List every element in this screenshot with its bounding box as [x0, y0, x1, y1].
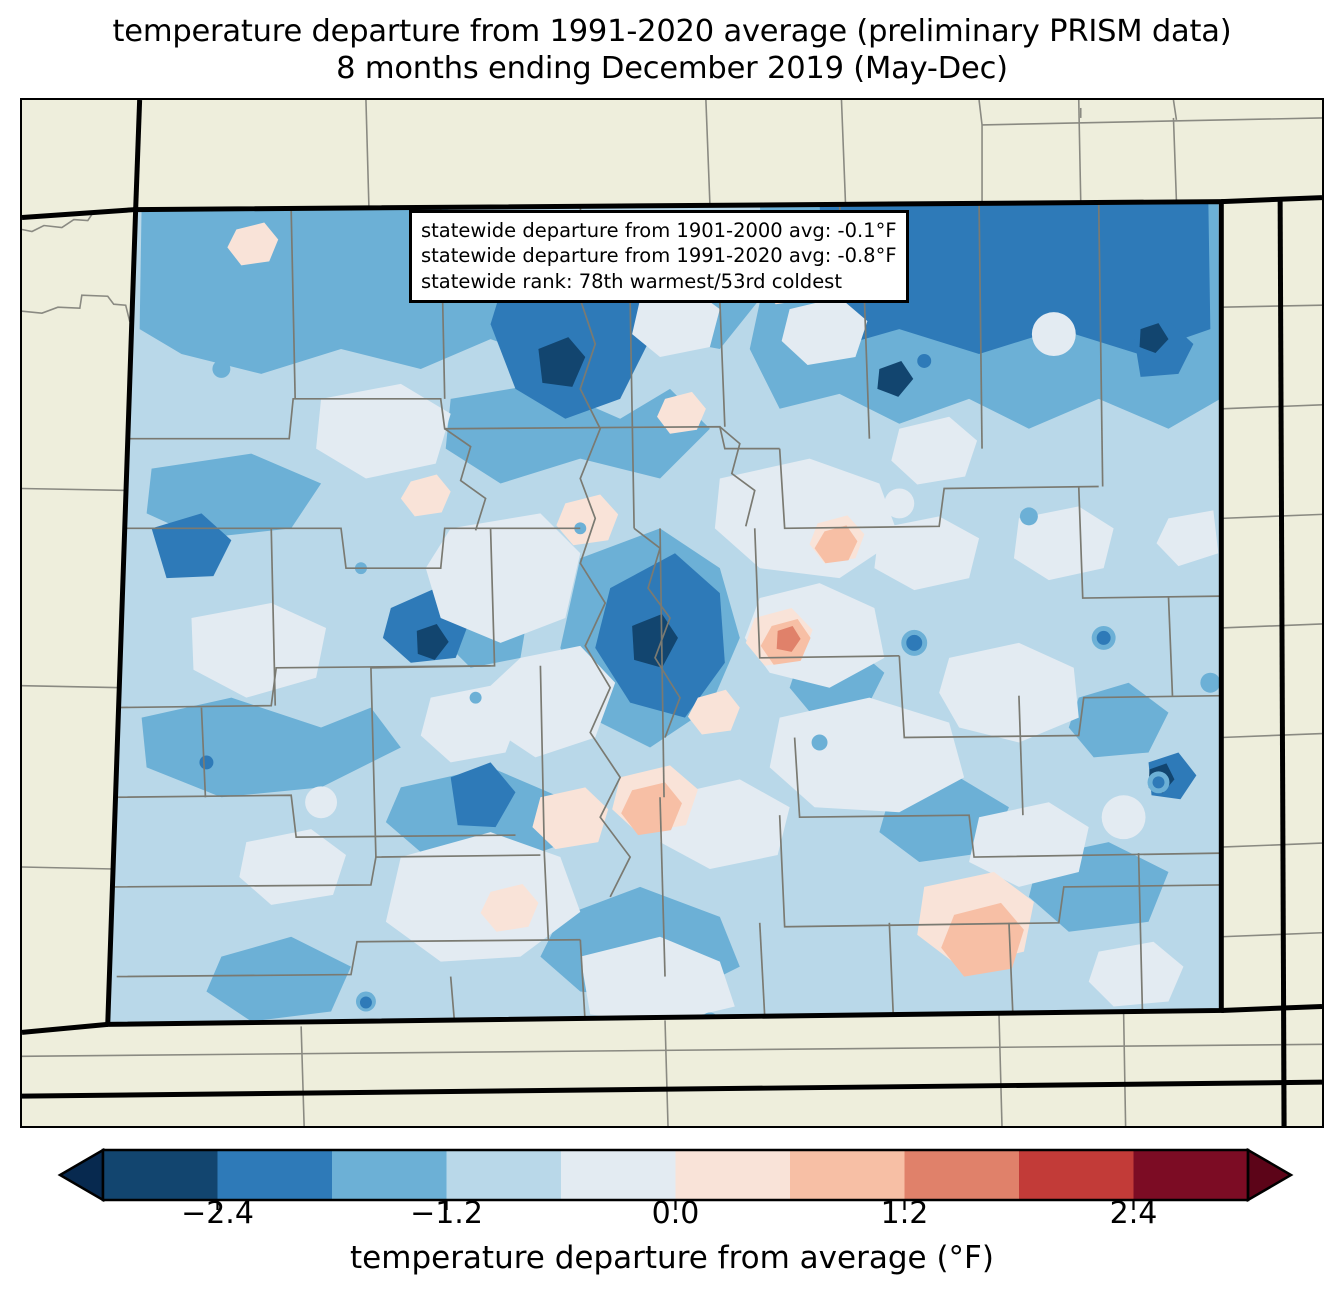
colorbar-axis-label: temperature departure from average (°F): [0, 1240, 1344, 1276]
map-panel: statewide departure from 1901-2000 avg: …: [20, 98, 1324, 1128]
colorbar-band-4: [561, 1150, 676, 1200]
colorbar-over-cap: [1248, 1150, 1291, 1200]
statewide-stats-box: statewide departure from 1901-2000 avg: …: [409, 210, 909, 303]
stats-line-1: statewide departure from 1901-2000 avg: …: [421, 218, 897, 243]
stats-line-3: statewide rank: 78th warmest/53rd coldes…: [421, 269, 897, 294]
colorbar-tick-label-2: 0.0: [596, 1196, 756, 1231]
page-title: temperature departure from 1991-2020 ave…: [0, 14, 1344, 87]
colorbar-band-7: [905, 1150, 1020, 1200]
temperature-departure-field: [102, 195, 1234, 1090]
colorbar-band-0: [103, 1150, 218, 1200]
colorbar-band-8: [1019, 1150, 1134, 1200]
colorbar-band-2: [332, 1150, 447, 1200]
colorbar-band-9: [1134, 1150, 1249, 1200]
colorbar-band-3: [447, 1150, 562, 1200]
colorbar-band-6: [790, 1150, 905, 1200]
colorbar-tick-label-1: −1.2: [367, 1196, 527, 1231]
colorbar-tick-labels: −2.4−1.20.01.22.4: [0, 1196, 1344, 1236]
colorbar-band-1: [218, 1150, 333, 1200]
colorbar-band-5: [676, 1150, 791, 1200]
title-line-1: temperature departure from 1991-2020 ave…: [0, 14, 1344, 51]
colorbar-tick-label-0: −2.4: [138, 1196, 298, 1231]
stats-line-2: statewide departure from 1991-2020 avg: …: [421, 243, 897, 268]
colorbar-under-cap: [60, 1150, 103, 1200]
colorbar-tick-label-3: 1.2: [825, 1196, 985, 1231]
colorbar-tick-label-4: 2.4: [1054, 1196, 1214, 1231]
title-line-2: 8 months ending December 2019 (May-Dec): [0, 51, 1344, 88]
